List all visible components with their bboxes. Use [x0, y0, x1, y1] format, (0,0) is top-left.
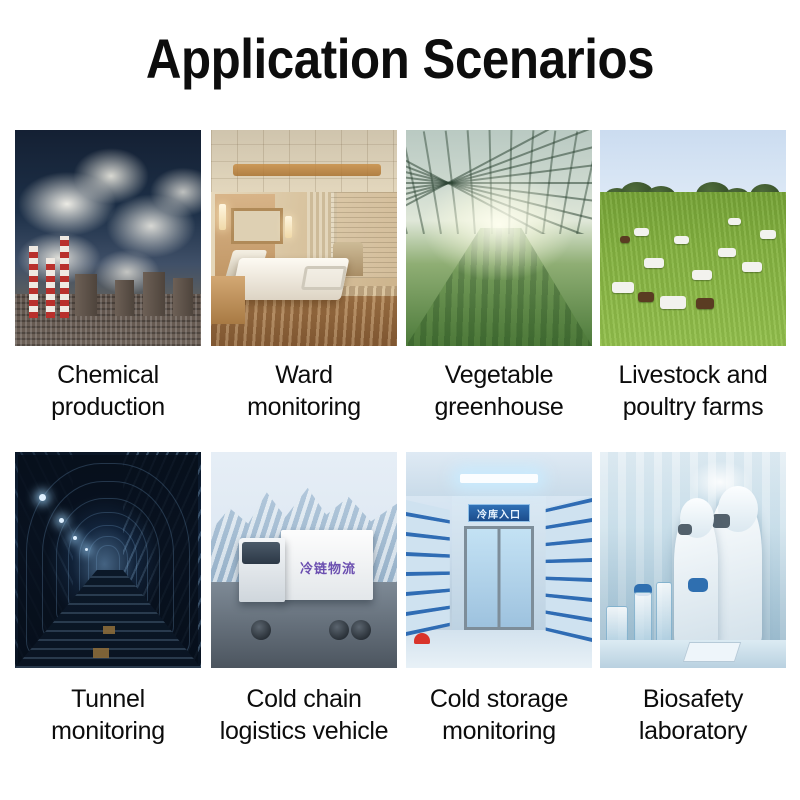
- wall-sconce-light: [285, 216, 292, 238]
- track-equipment-box: [103, 626, 115, 634]
- tunnel-lamp: [39, 494, 46, 501]
- striped-chimney: [60, 236, 69, 318]
- cow: [718, 248, 736, 257]
- page-title: Application Scenarios: [48, 30, 752, 89]
- cooling-tower: [75, 274, 97, 316]
- fluorescent-ceiling-light: [460, 474, 538, 483]
- cooling-tower: [173, 278, 193, 316]
- truck-wheel: [329, 620, 349, 640]
- blue-shelving-left: [406, 500, 450, 636]
- cow: [760, 230, 776, 239]
- scenario-caption: Ward monitoring: [211, 360, 397, 423]
- windshield: [242, 542, 280, 564]
- floor: [406, 630, 592, 668]
- cow: [728, 218, 741, 225]
- scenario-caption: Tunnel monitoring: [15, 684, 201, 747]
- clipboard: [683, 642, 741, 662]
- calf: [696, 298, 714, 309]
- sunlight-glow: [424, 170, 574, 280]
- cow: [660, 296, 686, 309]
- glass-entry-doors: [464, 526, 534, 630]
- tunnel-lamp: [73, 536, 77, 540]
- scenario-caption: Cold chain logistics vehicle: [211, 684, 397, 747]
- respirator-mask: [678, 524, 692, 535]
- cow: [742, 262, 762, 272]
- scenario-card-cold-storage-monitoring[interactable]: 冷库入口 Cold storage monitoring: [406, 452, 592, 747]
- cow: [634, 228, 649, 236]
- blue-glove: [688, 578, 708, 592]
- wall-sconce-light: [219, 204, 226, 230]
- cow: [612, 282, 634, 293]
- chemical-plant-smokestacks-photo[interactable]: [15, 130, 201, 346]
- scenario-card-cold-chain-logistics-vehicle[interactable]: 冷链物流 Cold chain logistics vehicle: [211, 452, 397, 747]
- truck-wheel: [251, 620, 271, 640]
- bedside-cabinet: [211, 276, 245, 324]
- scenario-caption: Vegetable greenhouse: [406, 360, 592, 423]
- hospital-ward-room-photo[interactable]: [211, 130, 397, 346]
- scenario-caption: Livestock and poultry farms: [600, 360, 786, 423]
- blue-shelving-right: [546, 496, 592, 642]
- calf: [620, 236, 630, 243]
- scenario-grid: Chemical production: [0, 130, 800, 452]
- scenario-card-biosafety-laboratory[interactable]: Biosafety laboratory: [600, 452, 786, 747]
- framed-picture: [231, 208, 283, 244]
- cow: [644, 258, 664, 268]
- livestock-pasture-cattle-photo[interactable]: [600, 130, 786, 346]
- track-equipment-box: [93, 648, 109, 658]
- scenario-card-ward-monitoring[interactable]: Ward monitoring: [211, 130, 397, 423]
- truck-wheel: [351, 620, 371, 640]
- cow: [674, 236, 689, 244]
- cooling-tower: [143, 272, 165, 316]
- scenario-row-1: Chemical production: [0, 130, 800, 452]
- tunnel-lamp: [85, 548, 88, 551]
- cold-storage-warehouse-photo[interactable]: 冷库入口: [406, 452, 592, 668]
- vegetable-greenhouse-interior-photo[interactable]: [406, 130, 592, 346]
- application-scenarios-page: Application Scenarios Chemical productio…: [0, 0, 800, 800]
- striped-chimney: [29, 246, 38, 318]
- respirator-mask: [712, 514, 730, 528]
- cooling-tower: [115, 280, 134, 316]
- scenario-caption: Biosafety laboratory: [600, 684, 786, 747]
- scenario-card-vegetable-greenhouse[interactable]: Vegetable greenhouse: [406, 130, 592, 423]
- striped-chimney: [46, 258, 55, 318]
- ceiling-tiles: [211, 130, 397, 196]
- ceiling-cove-trim: [233, 164, 381, 176]
- cold-chain-refrigerated-truck-photo[interactable]: 冷链物流: [211, 452, 397, 668]
- scenario-card-livestock-poultry-farms[interactable]: Livestock and poultry farms: [600, 130, 786, 423]
- scenario-card-tunnel-monitoring[interactable]: Tunnel monitoring: [15, 452, 201, 747]
- tunnel-interior-monitoring-photo[interactable]: [15, 452, 201, 668]
- red-safety-helmet: [414, 633, 430, 644]
- biosafety-laboratory-photo[interactable]: [600, 452, 786, 668]
- scenario-caption: Chemical production: [15, 360, 201, 423]
- scenario-row-2: Tunnel monitoring 冷链物流 Cold chain logist…: [0, 452, 800, 800]
- tunnel-lamp: [59, 518, 64, 523]
- cow: [692, 270, 712, 280]
- truck-marking-text: 冷链物流: [293, 558, 363, 577]
- calf: [638, 292, 654, 302]
- bed-side-rail: [301, 266, 347, 290]
- scenario-card-chemical-production[interactable]: Chemical production: [15, 130, 201, 423]
- cold-storage-entrance-sign: 冷库入口: [468, 504, 530, 522]
- scenario-caption: Cold storage monitoring: [406, 684, 592, 747]
